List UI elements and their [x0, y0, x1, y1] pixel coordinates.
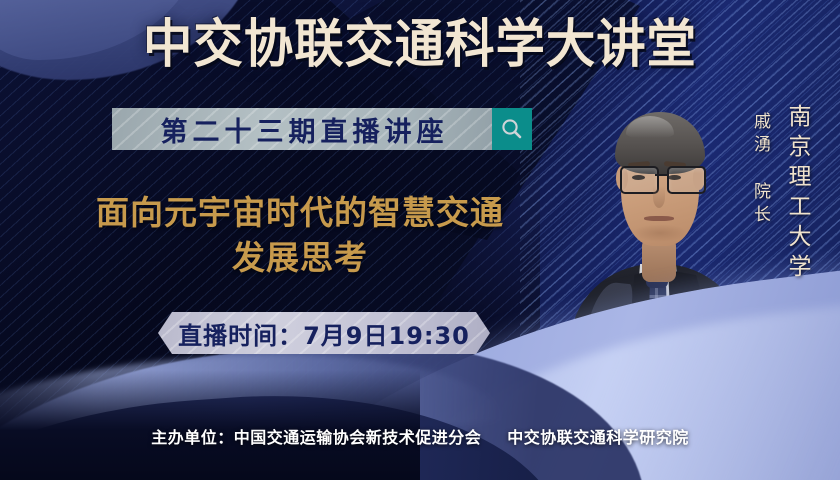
broadcast-time-banner: 直播时间：7月9日19:30 [158, 312, 490, 354]
series-bar-label-box: 第二十三期直播讲座 [112, 108, 492, 150]
headline-line-1: 面向元宇宙时代的智慧交通 [96, 193, 504, 232]
headline-line-2: 发展思考 [40, 235, 560, 280]
livestream-poster: 中交协联交通科学大讲堂 第二十三期直播讲座 面向元宇宙时代的智慧交通 发展思考 … [0, 0, 840, 480]
portrait-lens-right [667, 166, 706, 194]
speaker-name: 戚湧 [748, 112, 773, 158]
portrait-glasses-bridge [655, 174, 667, 176]
search-icon [500, 117, 524, 141]
portrait-chin-shadow [632, 224, 688, 242]
portrait-nose [653, 186, 665, 208]
footer-prefix: 主办单位： [151, 428, 234, 447]
page-title: 中交协联交通科学大讲堂 [21, 14, 819, 76]
series-bar: 第二十三期直播讲座 [112, 108, 532, 150]
speaker-university: 南京理工大学 [780, 104, 814, 284]
lecture-headline: 面向元宇宙时代的智慧交通 发展思考 [40, 190, 560, 280]
portrait-mouth [644, 216, 674, 221]
search-button[interactable] [492, 108, 532, 150]
broadcast-time-text: 直播时间：7月9日19:30 [178, 316, 470, 351]
footer-org-2: 中交协联交通科学研究院 [507, 428, 689, 447]
speaker-role: 院长 [748, 182, 773, 228]
series-bar-label: 第二十三期直播讲座 [156, 110, 449, 149]
footer-org-1: 中国交通运输协会新技术促进分会 [234, 428, 482, 447]
footer-organizers: 主办单位：中国交通运输协会新技术促进分会中交协联交通科学研究院 [0, 424, 840, 448]
